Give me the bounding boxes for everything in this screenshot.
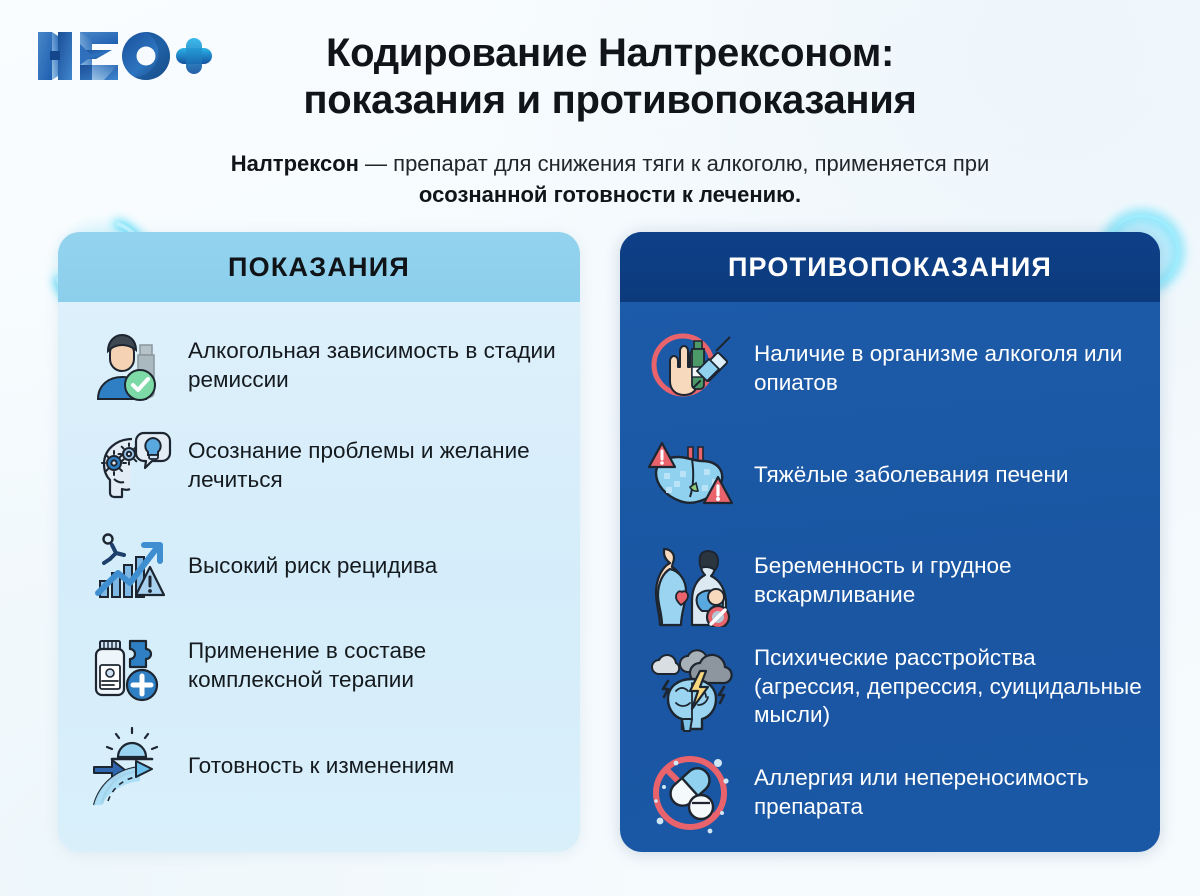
sunrise-road-arrow-icon <box>88 723 174 809</box>
list-item[interactable]: Высокий риск рецидива <box>58 516 580 616</box>
page-subtitle: Налтрексон — препарат для снижения тяги … <box>230 148 990 210</box>
list-item-label: Беременность и грудное вскармливание <box>754 552 1142 610</box>
list-item[interactable]: Беременность и грудное вскармливание <box>620 528 1160 634</box>
card-indications: ПОКАЗАНИЯ Алкогольная зависимость в стад… <box>58 232 580 852</box>
list-item[interactable]: Применение в составе комплексной терапии <box>58 616 580 716</box>
list-item-label: Высокий риск рецидива <box>188 552 437 581</box>
subtitle-lead: Налтрексон <box>231 151 359 176</box>
page-title: Кодирование Налтрексоном: показания и пр… <box>215 30 1005 124</box>
pregnancy-breastfeeding-icon <box>646 535 738 627</box>
list-item[interactable]: Наличие в организме алкоголя или опиатов <box>620 316 1160 422</box>
card-contraindications: ПРОТИВОПОКАЗАНИЯ Наличи <box>620 232 1160 852</box>
neo-plus-logo <box>34 26 214 86</box>
page-title-line1: Кодирование Налтрексоном: <box>215 30 1005 77</box>
pills-prohibited-icon <box>646 747 738 839</box>
list-item[interactable]: Готовность к изменениям <box>58 716 580 816</box>
subtitle-tail: осознанной готовности к лечению. <box>419 182 801 207</box>
indications-list: Алкогольная зависимость в стадии ремисси… <box>58 302 580 816</box>
card-indications-heading: ПОКАЗАНИЯ <box>58 232 580 302</box>
list-item-label: Применение в составе комплексной терапии <box>188 637 562 695</box>
stop-hand-bottle-syringe-icon <box>646 323 738 415</box>
list-item[interactable]: Тяжёлые заболевания печени <box>620 422 1160 528</box>
list-item-label: Аллергия или непереносимость препарата <box>754 764 1142 822</box>
list-item-label: Психические расстройства (агрессия, депр… <box>754 644 1142 730</box>
list-item-label: Наличие в организме алкоголя или опиатов <box>754 340 1142 398</box>
list-item-label: Осознание проблемы и желание лечиться <box>188 437 562 495</box>
card-contraindications-heading: ПРОТИВОПОКАЗАНИЯ <box>620 232 1160 302</box>
list-item[interactable]: Осознание проблемы и желание лечиться <box>58 416 580 516</box>
liver-warning-icon <box>646 429 738 521</box>
page-title-line2: показания и противопоказания <box>215 77 1005 124</box>
list-item-label: Готовность к изменениям <box>188 752 454 781</box>
list-item[interactable]: Аллергия или непереносимость препарата <box>620 740 1160 846</box>
list-item[interactable]: Алкогольная зависимость в стадии ремисси… <box>58 316 580 416</box>
list-item-label: Тяжёлые заболевания печени <box>754 461 1069 490</box>
medicine-bottle-puzzle-plus-icon <box>88 623 174 709</box>
head-gears-lightbulb-icon <box>88 423 174 509</box>
list-item[interactable]: Психические расстройства (агрессия, депр… <box>620 634 1160 740</box>
growth-chart-warning-icon <box>88 523 174 609</box>
brain-storm-lightning-icon <box>646 641 738 733</box>
contraindications-list: Наличие в организме алкоголя или опиатов <box>620 302 1160 846</box>
person-with-bottle-check-icon <box>88 323 174 409</box>
subtitle-middle: — препарат для снижения тяги к алкоголю,… <box>359 151 989 176</box>
list-item-label: Алкогольная зависимость в стадии ремисси… <box>188 337 562 395</box>
